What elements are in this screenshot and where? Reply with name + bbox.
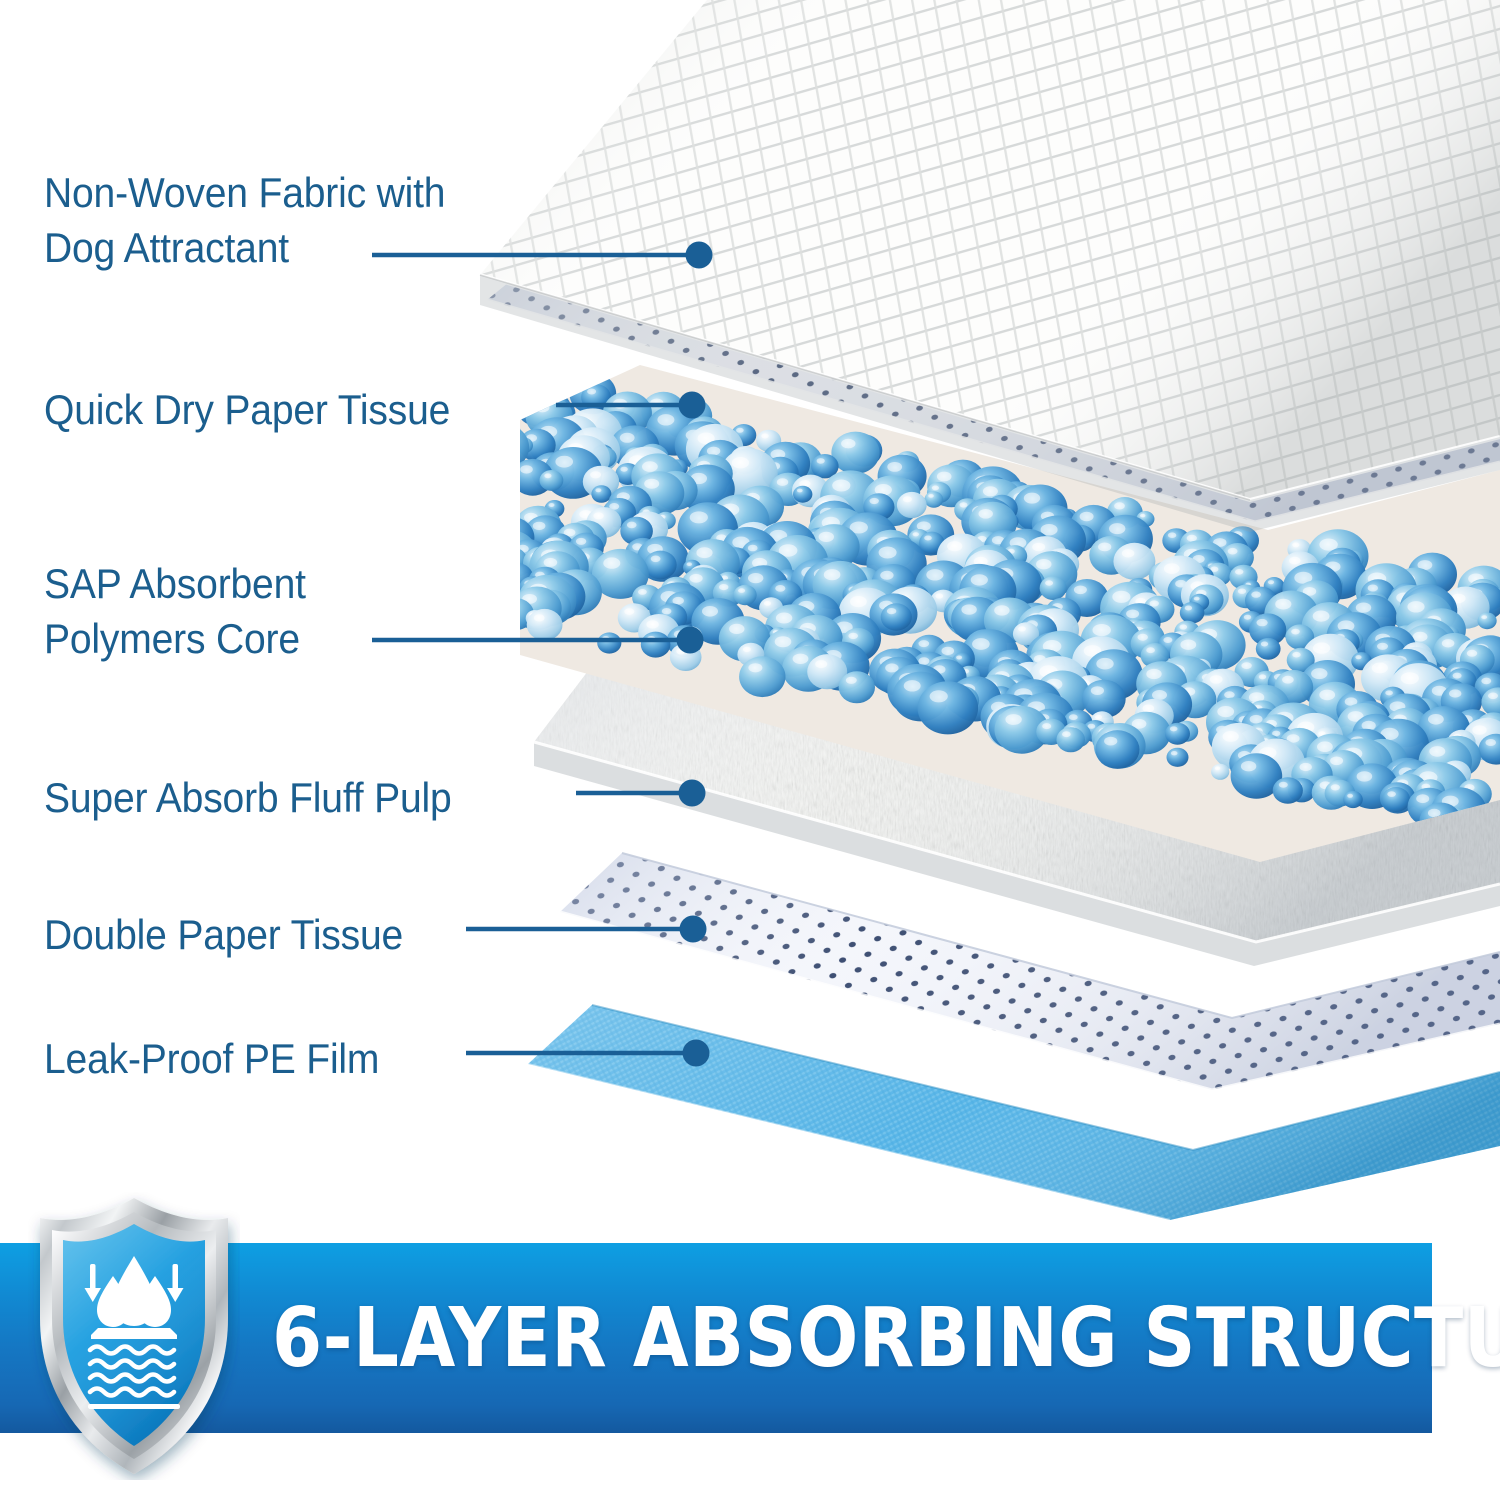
label-non-woven-fabric: Non-Woven Fabric with Dog Attractant — [44, 166, 445, 275]
label-double-paper-tissue: Double Paper Tissue — [44, 908, 403, 963]
infographic-page: Non-Woven Fabric with Dog Attractant Qui… — [0, 0, 1500, 1495]
label-super-absorb-fluff-pulp: Super Absorb Fluff Pulp — [44, 771, 452, 826]
base-line-icon — [88, 1404, 180, 1409]
banner-headline: 6-LAYER ABSORBING STRUCTURE — [272, 1266, 1310, 1411]
waterproof-absorbing-shield-badge — [28, 1192, 240, 1480]
surface-line-icon — [91, 1328, 177, 1339]
label-leak-proof-pe-film: Leak-Proof PE Film — [44, 1032, 379, 1087]
label-quick-dry-paper-tissue: Quick Dry Paper Tissue — [44, 383, 450, 438]
label-sap-absorbent-polymers-core: SAP Absorbent Polymers Core — [44, 557, 306, 666]
